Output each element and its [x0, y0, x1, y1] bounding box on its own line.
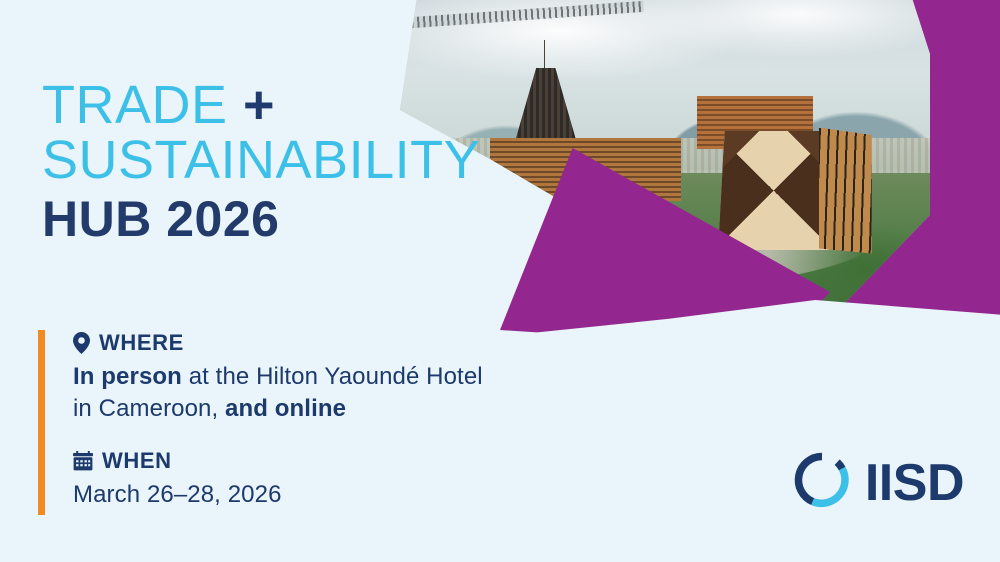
purple-shape-right: [690, 0, 1000, 318]
event-promo-banner: TRADE + SUSTAINABILITY HUB 2026 WHERE In…: [0, 0, 1000, 562]
photo-hall-fins: [819, 128, 872, 254]
title-line-sustainability: SUSTAINABILITY: [42, 133, 480, 188]
photo-low-fin-building: [495, 201, 643, 292]
when-date: March 26–28, 2026: [73, 479, 483, 511]
photo-construction-crane: [411, 0, 644, 27]
photo-parked-cars: [632, 270, 719, 303]
where-text-venue: at the Hilton Yaoundé Hotel: [182, 363, 483, 390]
photo-building-background-block: [697, 96, 814, 149]
photo-tower-mast: [544, 40, 545, 72]
title-word-trade: TRADE: [42, 75, 228, 135]
where-heading: WHERE: [73, 330, 483, 356]
where-text-country: in Cameroon,: [73, 395, 225, 422]
where-text-bold-in-person: In person: [73, 363, 182, 390]
when-heading: WHEN: [73, 448, 483, 474]
photo-conference-hall: [718, 131, 829, 250]
title-line-trade: TRADE +: [42, 78, 480, 133]
title-line-hub-2026: HUB 2026: [42, 194, 480, 245]
calendar-icon: [73, 451, 93, 471]
where-block: WHERE In person at the Hilton Yaoundé Ho…: [73, 330, 483, 425]
when-block: WHEN March 26–28, 2026: [73, 448, 483, 511]
where-text: In person at the Hilton Yaoundé Hotel in…: [73, 361, 483, 425]
page-title: TRADE + SUSTAINABILITY HUB 2026: [42, 78, 480, 245]
photo-road: [643, 233, 868, 299]
iisd-circle-icon: [793, 451, 851, 514]
map-pin-icon: [73, 332, 90, 354]
where-label: WHERE: [99, 330, 184, 356]
iisd-wordmark: IISD: [865, 457, 964, 509]
iisd-logo: IISD: [793, 451, 964, 514]
when-label: WHEN: [102, 448, 172, 474]
event-details-block: WHERE In person at the Hilton Yaoundé Ho…: [38, 330, 483, 515]
photo-dark-tower: [506, 68, 586, 173]
where-text-bold-and-online: and online: [225, 395, 346, 422]
title-plus-symbol: +: [243, 75, 275, 135]
purple-shape-wedge: [500, 148, 830, 348]
photo-midrise-slab: [490, 138, 681, 201]
